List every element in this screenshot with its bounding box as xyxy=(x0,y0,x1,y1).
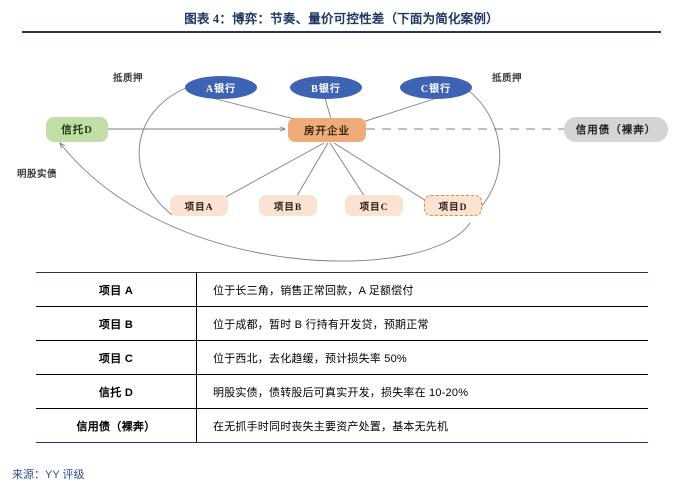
table-cell-key: 项目 A xyxy=(36,273,197,307)
table-cell-desc: 在无抓手时同时丧失主要资产处置，基本无先机 xyxy=(197,409,649,443)
node-bank-b-label: B银行 xyxy=(311,80,341,95)
node-bank-c[interactable]: C银行 xyxy=(400,76,472,99)
table-row: 项目 C 位于西北，去化趋缓，预计损失率 50% xyxy=(36,341,648,375)
node-project-b[interactable]: 项目B xyxy=(259,195,317,216)
table-body: 项目 A 位于长三角，销售正常回款，A 足额偿付 项目 B 位于成都，暂时 B … xyxy=(36,273,648,443)
node-project-a[interactable]: 项目A xyxy=(170,195,228,216)
edge-label-equity-debt: 明股实债 xyxy=(17,166,57,180)
node-project-d[interactable]: 项目D xyxy=(424,195,482,216)
edge-label-pledge-right: 抵质押 xyxy=(492,70,522,84)
node-trust-d-label: 信托D xyxy=(61,122,93,137)
node-project-c[interactable]: 项目C xyxy=(345,195,403,216)
table-row: 项目 A 位于长三角，销售正常回款，A 足额偿付 xyxy=(36,273,648,307)
node-project-d-label: 项目D xyxy=(439,199,468,213)
detail-table: 项目 A 位于长三角，销售正常回款，A 足额偿付 项目 B 位于成都，暂时 B … xyxy=(36,272,648,443)
edge-label-pledge-left: 抵质押 xyxy=(113,70,143,84)
table-cell-desc: 位于西北，去化趋缓，预计损失率 50% xyxy=(197,341,649,375)
node-project-c-label: 项目C xyxy=(360,199,389,213)
node-project-b-label: 项目B xyxy=(274,199,302,213)
node-developer-company-label: 房开企业 xyxy=(304,123,350,138)
table-cell-key: 项目 B xyxy=(36,307,197,341)
node-developer-company[interactable]: 房开企业 xyxy=(288,118,366,142)
figure-page: 图表 4：博弈：节奏、量价可控性差（下面为简化案例） xyxy=(0,0,683,491)
table-row: 信托 D 明股实债，债转股后可真实开发，损失率在 10-20% xyxy=(36,375,648,409)
node-credit-bond-label: 信用债（裸奔） xyxy=(576,122,657,137)
page-title: 图表 4：博弈：节奏、量价可控性差（下面为简化案例） xyxy=(0,8,683,27)
source-note: 来源：YY 评级 xyxy=(12,466,85,482)
table-cell-key: 信用债（裸奔） xyxy=(36,409,197,443)
table-cell-desc: 位于长三角，销售正常回款，A 足额偿付 xyxy=(197,273,649,307)
relationship-diagram: A银行 B银行 C银行 房开企业 信托D 信用债（裸奔） 项目A 项目B 项目C… xyxy=(0,33,683,268)
node-credit-bond[interactable]: 信用债（裸奔） xyxy=(564,117,668,142)
node-bank-a[interactable]: A银行 xyxy=(185,76,257,99)
node-project-a-label: 项目A xyxy=(185,199,214,213)
node-bank-b[interactable]: B银行 xyxy=(290,76,362,99)
node-bank-c-label: C银行 xyxy=(421,80,451,95)
table-cell-desc: 明股实债，债转股后可真实开发，损失率在 10-20% xyxy=(197,375,649,409)
table-cell-key: 项目 C xyxy=(36,341,197,375)
table-cell-key: 信托 D xyxy=(36,375,197,409)
table-cell-desc: 位于成都，暂时 B 行持有开发贷，预期正常 xyxy=(197,307,649,341)
diagram-edges xyxy=(0,33,683,268)
table-row: 项目 B 位于成都，暂时 B 行持有开发贷，预期正常 xyxy=(36,307,648,341)
node-trust-d[interactable]: 信托D xyxy=(46,117,108,142)
node-bank-a-label: A银行 xyxy=(206,80,236,95)
table-row: 信用债（裸奔） 在无抓手时同时丧失主要资产处置，基本无先机 xyxy=(36,409,648,443)
